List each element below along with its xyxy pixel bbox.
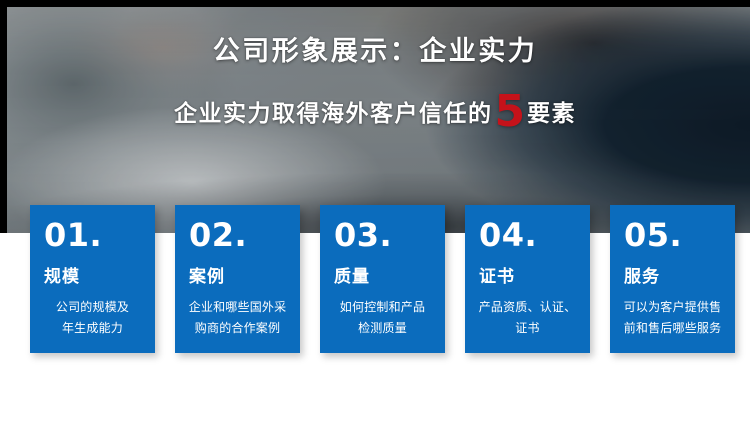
card-heading: 证书: [473, 269, 515, 286]
feature-card-05[interactable]: 05. 服务 可以为客户提供售 前和售后哪些服务: [610, 205, 735, 353]
card-description-line-2: 证书: [473, 318, 582, 339]
card-description-line-2: 检测质量: [328, 318, 437, 339]
card-number: 01.: [38, 219, 102, 251]
card-number: 02.: [183, 219, 247, 251]
card-number: 05.: [618, 219, 682, 251]
card-description-line-1: 如何控制和产品: [328, 297, 437, 318]
card-description-line-2: 年生成能力: [38, 318, 147, 339]
headline-block: 公司形象展示：企业实力 企业实力取得海外客户信任的5要素: [0, 36, 750, 128]
card-description: 企业和哪些国外采 购商的合作案例: [183, 297, 292, 339]
page-subtitle: 企业实力取得海外客户信任的5要素: [0, 89, 750, 127]
subtitle-text-before: 企业实力取得海外客户信任的: [174, 101, 493, 127]
card-description-line-2: 前和售后哪些服务: [618, 318, 727, 339]
feature-card-list: 01. 规模 公司的规模及 年生成能力 02. 案例 企业和哪些国外采 购商的合…: [30, 205, 735, 353]
subtitle-text-after: 要素: [527, 101, 576, 127]
card-description: 可以为客户提供售 前和售后哪些服务: [618, 297, 727, 339]
feature-card-01[interactable]: 01. 规模 公司的规模及 年生成能力: [30, 205, 155, 353]
subtitle-highlight-number: 5: [494, 86, 525, 137]
card-number: 03.: [328, 219, 392, 251]
card-description-line-2: 购商的合作案例: [183, 318, 292, 339]
card-number: 04.: [473, 219, 537, 251]
card-description-line-1: 产品资质、认证、: [473, 297, 582, 318]
banner-stage: 公司形象展示：企业实力 企业实力取得海外客户信任的5要素 01. 规模 公司的规…: [0, 0, 750, 422]
card-heading: 规模: [38, 269, 80, 286]
card-description-line-1: 公司的规模及: [38, 297, 147, 318]
card-description: 如何控制和产品 检测质量: [328, 297, 437, 339]
card-description-line-1: 可以为客户提供售: [618, 297, 727, 318]
feature-card-02[interactable]: 02. 案例 企业和哪些国外采 购商的合作案例: [175, 205, 300, 353]
card-description: 公司的规模及 年生成能力: [38, 297, 147, 339]
card-description: 产品资质、认证、 证书: [473, 297, 582, 339]
feature-card-04[interactable]: 04. 证书 产品资质、认证、 证书: [465, 205, 590, 353]
card-heading: 服务: [618, 269, 660, 286]
card-heading: 案例: [183, 269, 225, 286]
card-heading: 质量: [328, 269, 370, 286]
feature-card-03[interactable]: 03. 质量 如何控制和产品 检测质量: [320, 205, 445, 353]
page-title: 公司形象展示：企业实力: [0, 36, 750, 68]
card-description-line-1: 企业和哪些国外采: [183, 297, 292, 318]
